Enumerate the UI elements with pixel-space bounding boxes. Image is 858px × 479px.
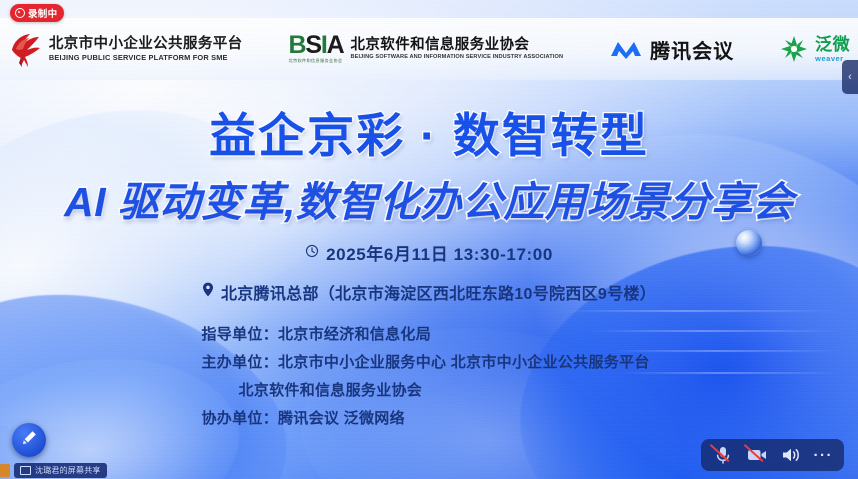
bsia-wordmark: BSIA — [289, 34, 344, 58]
organizer-row: 北京软件和信息服务业协会 — [165, 379, 694, 400]
phoenix-logo-icon — [8, 30, 42, 68]
organizer-row: 主办单位：北京市中小企业服务中心 北京市中小企业公共服务平台 — [202, 351, 657, 372]
camera-muted-icon[interactable] — [746, 445, 768, 465]
decor-streak-1 — [560, 310, 840, 312]
bsia-wordmark-sub: 北京软件和信息服务业协会 — [289, 58, 344, 64]
logo-tencent-meeting: 腾讯会议 — [609, 35, 734, 64]
slide-datetime-row: 2025年6月11日 13:30-17:00 — [0, 240, 858, 265]
slide-location-row: 北京腾讯总部（北京市海淀区西北旺东路10号院西区9号楼） — [0, 280, 858, 304]
slide-subheadline: AI 驱动变革,数智化办公应用场景分享会 — [0, 168, 858, 228]
weaver-logo-icon — [780, 35, 808, 63]
logo-cn-name: 泛微 — [815, 36, 850, 53]
record-circle-icon — [15, 8, 25, 18]
logo-cn-name: 腾讯会议 — [650, 35, 734, 64]
slide-headline: 益企京彩 · 数智转型 — [0, 97, 858, 166]
share-pill: 沈璐君的屏幕共享 — [14, 463, 107, 478]
logo-text-block: 北京市中小企业公共服务平台 BEIJING PUBLIC SERVICE PLA… — [49, 36, 243, 62]
chevron-left-icon: ‹ — [848, 72, 852, 83]
slide-organizers-block: 指导单位：北京市经济和信息化局 主办单位：北京市中小企业服务中心 北京市中小企业… — [0, 323, 858, 428]
logo-cn-name: 北京软件和信息服务业协会 — [351, 37, 564, 54]
pen-annotate-icon — [21, 429, 38, 451]
slide-datetime-text: 2025年6月11日 13:30-17:00 — [326, 240, 553, 265]
share-owner-label: 沈璐君的屏幕共享 — [35, 465, 101, 476]
meeting-toolbar: ··· — [701, 439, 845, 471]
monitor-icon — [20, 466, 31, 475]
logo-text-block: 泛微 weaver — [815, 36, 850, 63]
share-color-chip — [0, 464, 10, 477]
screen-share-indicator: 沈璐君的屏幕共享 — [0, 462, 113, 479]
recording-badge-label: 录制中 — [28, 6, 57, 20]
organizer-row: 指导单位：北京市经济和信息化局 — [202, 323, 657, 344]
collapse-panel-button[interactable]: ‹ — [842, 60, 858, 94]
logo-text-block: 北京软件和信息服务业协会 BEIJING SOFTWARE AND INFORM… — [351, 37, 564, 61]
map-pin-icon — [202, 282, 214, 302]
bsia-logo-icon: BSIA 北京软件和信息服务业协会 — [289, 34, 344, 64]
logo-en-name: BEIJING PUBLIC SERVICE PLATFORM FOR SME — [49, 53, 243, 63]
logo-cn-name: 北京市中小企业公共服务平台 — [49, 36, 243, 53]
slide-location-text: 北京腾讯总部（北京市海淀区西北旺东路10号院西区9号楼） — [221, 280, 656, 304]
clock-icon — [305, 243, 319, 263]
sponsor-logo-bar: 北京市中小企业公共服务平台 BEIJING PUBLIC SERVICE PLA… — [0, 18, 858, 80]
speaker-icon[interactable] — [780, 445, 802, 465]
more-options-button[interactable]: ··· — [814, 448, 834, 463]
annotate-button[interactable] — [12, 423, 46, 457]
recording-badge: 录制中 — [10, 4, 64, 22]
logo-bsia: BSIA 北京软件和信息服务业协会 北京软件和信息服务业协会 BEIJING S… — [289, 34, 564, 64]
meeting-screen-share-view: 北京市中小企业公共服务平台 BEIJING PUBLIC SERVICE PLA… — [0, 0, 858, 479]
tencent-meeting-logo-icon — [609, 38, 643, 60]
logo-en-name: BEIJING SOFTWARE AND INFORMATION SERVICE… — [351, 54, 564, 62]
logo-weaver: 泛微 weaver — [780, 35, 850, 63]
logo-beijing-public-service-platform: 北京市中小企业公共服务平台 BEIJING PUBLIC SERVICE PLA… — [8, 30, 243, 68]
organizer-row: 协办单位：腾讯会议 泛微网络 — [202, 407, 657, 428]
microphone-muted-icon[interactable] — [712, 445, 734, 465]
